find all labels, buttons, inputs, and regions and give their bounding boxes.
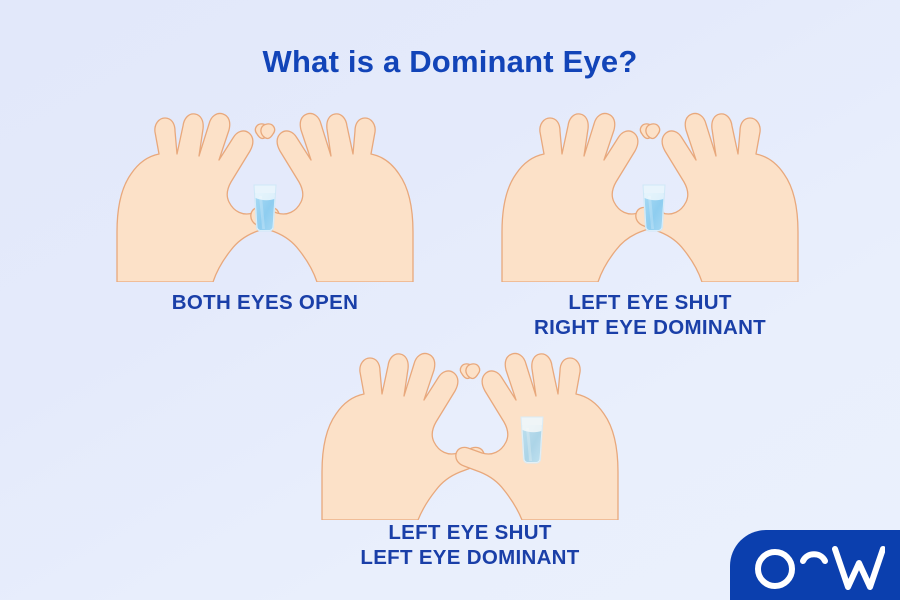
panel-caption-right-dominant: LEFT EYE SHUT RIGHT EYE DOMINANT [490,290,810,340]
panel-both-eyes-open: BOTH EYES OPEN [105,112,425,282]
hands-illustration-both-eyes [105,112,425,282]
glass-of-water [254,185,276,231]
caption-line-1: BOTH EYES OPEN [105,290,425,315]
hands-illustration-right-dominant [490,112,810,282]
panel-caption-both-eyes: BOTH EYES OPEN [105,290,425,315]
page-title: What is a Dominant Eye? [0,44,900,80]
glass-of-water [643,185,665,231]
panel-caption-left-dominant: LEFT EYE SHUT LEFT EYE DOMINANT [310,520,630,570]
ow-logo[interactable] [730,530,900,600]
hands-illustration-left-dominant [310,352,630,520]
caption-line-2: LEFT EYE DOMINANT [310,545,630,570]
panel-right-eye-dominant: LEFT EYE SHUT RIGHT EYE DOMINANT [490,112,810,282]
glass-of-water [521,417,543,463]
caption-line-1: LEFT EYE SHUT [310,520,630,545]
ow-logo-mark [745,539,885,591]
caption-line-2: RIGHT EYE DOMINANT [490,315,810,340]
panel-left-eye-dominant: LEFT EYE SHUT LEFT EYE DOMINANT [310,352,630,520]
infographic-canvas: What is a Dominant Eye? [0,0,900,600]
caption-line-1: LEFT EYE SHUT [490,290,810,315]
